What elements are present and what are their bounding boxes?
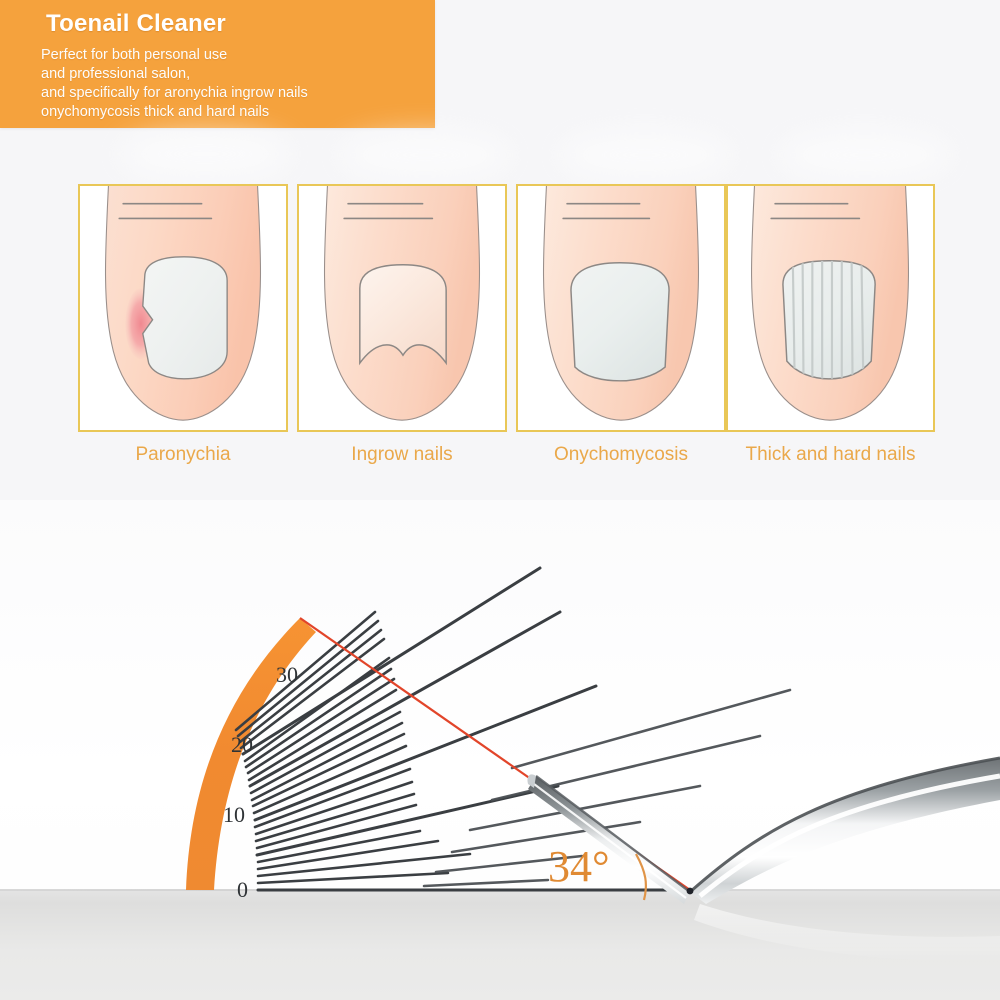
condition-label-onychomycosis: Onychomycosis <box>516 444 726 466</box>
condition-panel-thick[interactable] <box>726 184 935 432</box>
tool-shaft <box>690 758 1000 904</box>
condition-panel-paronychia[interactable] <box>78 184 288 432</box>
product-photo-scene: 0 10 20 30 <box>0 500 1000 1000</box>
tick-label-30: 30 <box>276 662 298 687</box>
tick-label-0: 0 <box>237 877 248 902</box>
condition-panel-ingrown[interactable] <box>297 184 507 432</box>
toe-illustration-onychomycosis <box>518 186 724 430</box>
condition-panels: Paronychia Ingro <box>0 0 1000 500</box>
condition-label-thick: Thick and hard nails <box>726 444 935 466</box>
tick-label-20: 20 <box>231 732 253 757</box>
angle-value-label: 34° <box>548 845 610 889</box>
protractor-and-tool: 0 10 20 30 <box>0 500 1000 1000</box>
toe-illustration-thick <box>728 186 933 430</box>
condition-label-ingrown: Ingrow nails <box>297 444 507 466</box>
toe-illustration-paronychia <box>80 186 286 430</box>
toe-illustration-ingrown <box>299 186 505 430</box>
condition-label-paronychia: Paronychia <box>78 444 288 466</box>
tick-label-10: 10 <box>223 802 245 827</box>
condition-panel-onychomycosis[interactable] <box>516 184 726 432</box>
tool-pivot-point <box>687 888 694 895</box>
tool-reflection <box>694 904 1000 962</box>
infographic-root: Toenail Cleaner Perfect for both persona… <box>0 0 1000 1000</box>
